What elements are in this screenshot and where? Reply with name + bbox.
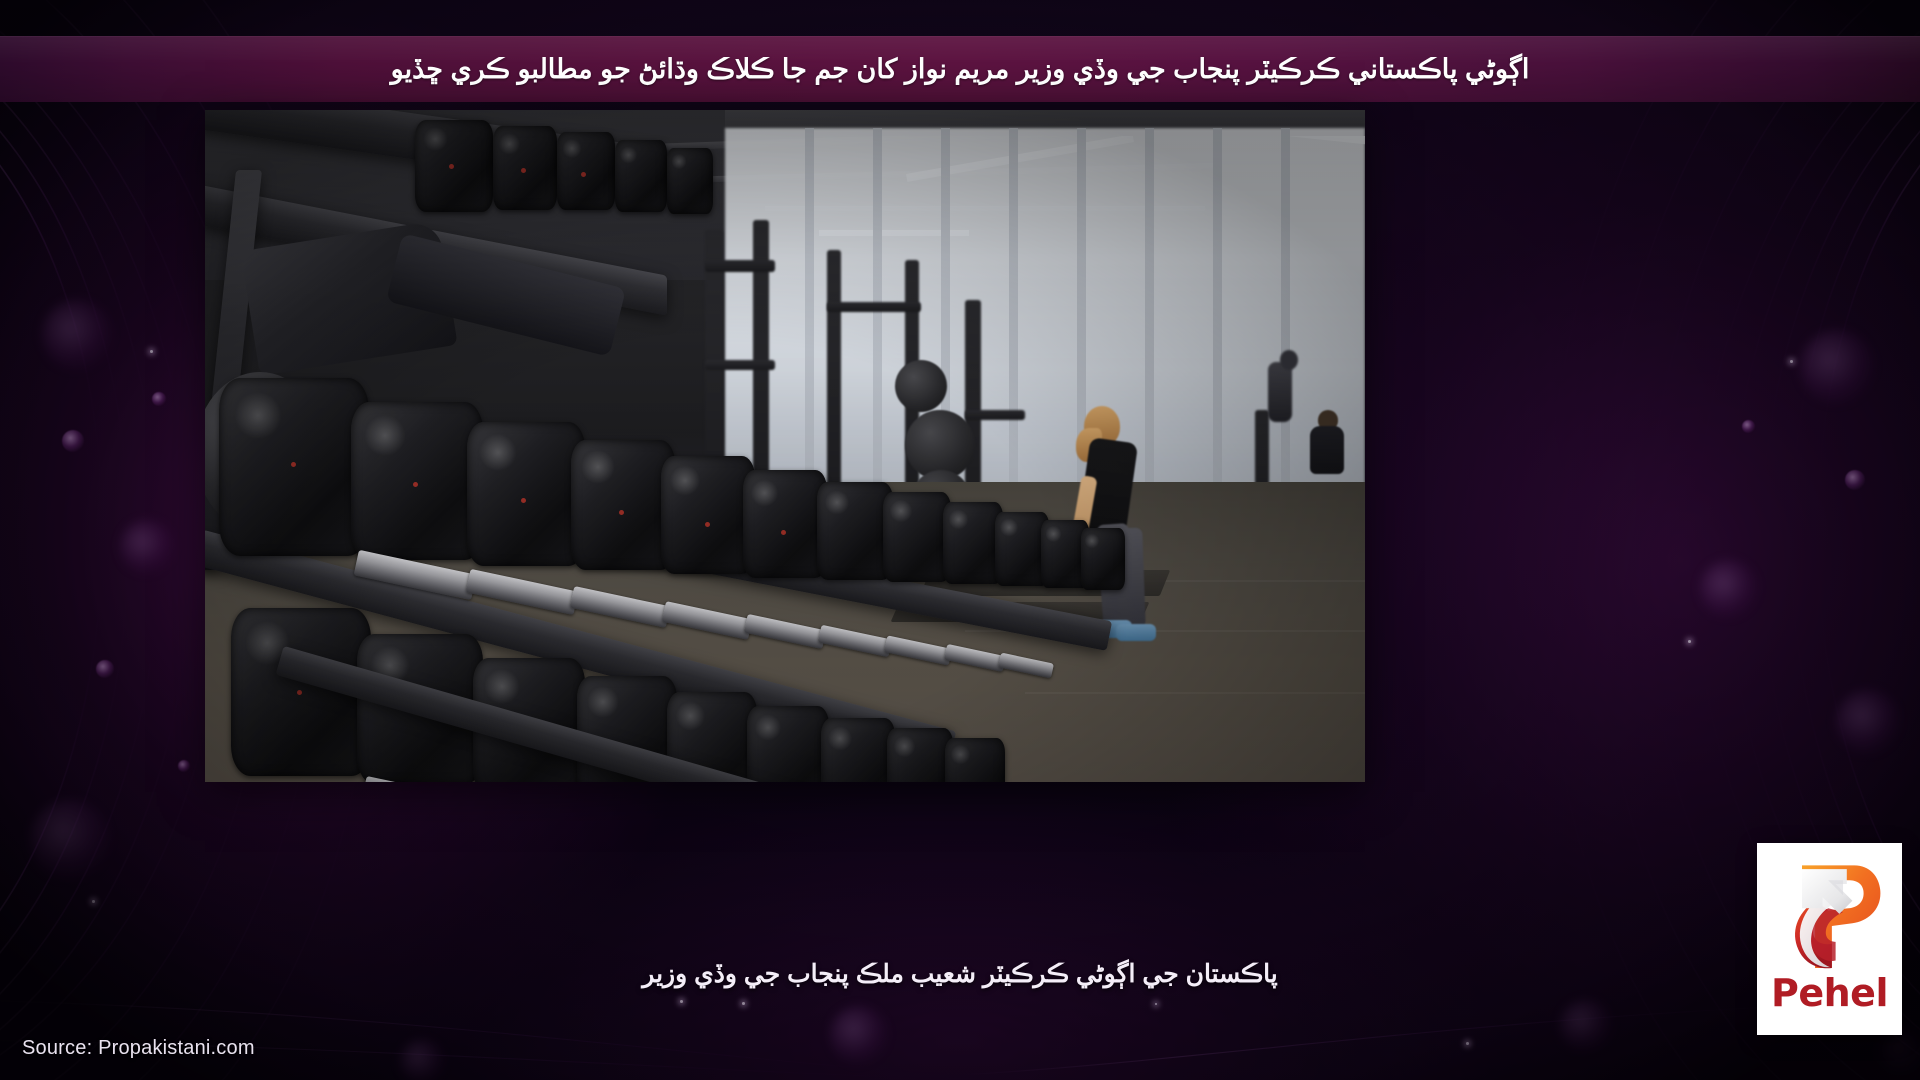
slide-canvas: اڳوڻي پاڪستاني ڪرڪيٽر پنجاب جي وڏي وزير … — [0, 0, 1920, 1080]
article-image — [205, 110, 1365, 782]
caption-text: پاڪستان جي اڳوڻي ڪرڪيٽر شعيب ملڪ پنجاب ج… — [642, 959, 1277, 989]
person-distant — [1300, 410, 1360, 500]
logo-wordmark: Pehel — [1771, 974, 1888, 1012]
headline-text: اڳوڻي پاڪستاني ڪرڪيٽر پنجاب جي وڏي وزير … — [391, 53, 1530, 86]
headline-bar: اڳوڻي پاڪستاني ڪرڪيٽر پنجاب جي وڏي وزير … — [0, 36, 1920, 102]
pehel-arrow-swoosh-logo — [1774, 852, 1886, 972]
source-credit: Source: Propakistani.com — [22, 1037, 255, 1060]
image-caption: پاڪستان جي اڳوڻي ڪرڪيٽر شعيب ملڪ پنجاب ج… — [0, 948, 1920, 1000]
pehel-logo-card: Pehel — [1757, 843, 1902, 1035]
gym-photo — [205, 110, 1365, 782]
